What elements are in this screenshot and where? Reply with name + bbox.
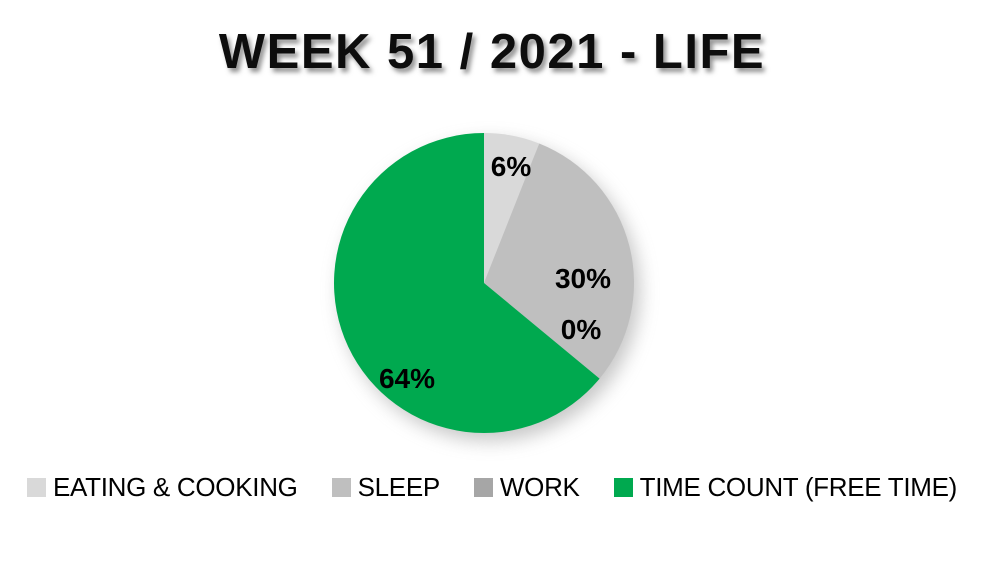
legend-item-label: EATING & COOKING (53, 472, 298, 503)
pie-slice-label: 6% (491, 151, 531, 183)
legend-item-label: TIME COUNT (FREE TIME) (640, 472, 957, 503)
legend-item[interactable]: TIME COUNT (FREE TIME) (614, 472, 957, 503)
pie-chart-figure: WEEK 51 / 2021 - LIFE 6%30%0%64% EATING … (0, 0, 984, 562)
pie-slice-label: 30% (555, 263, 611, 295)
pie-slice-label: 64% (379, 363, 435, 395)
legend-color-swatch (614, 478, 633, 497)
chart-legend: EATING & COOKINGSLEEPWORKTIME COUNT (FRE… (0, 472, 984, 503)
legend-item[interactable]: EATING & COOKING (27, 472, 298, 503)
legend-color-swatch (27, 478, 46, 497)
chart-title: WEEK 51 / 2021 - LIFE (0, 24, 984, 80)
legend-color-swatch (474, 478, 493, 497)
legend-item[interactable]: WORK (474, 472, 580, 503)
legend-item-label: WORK (500, 472, 580, 503)
legend-color-swatch (332, 478, 351, 497)
pie-slice-label: 0% (561, 314, 601, 346)
legend-item-label: SLEEP (358, 472, 440, 503)
legend-item[interactable]: SLEEP (332, 472, 440, 503)
